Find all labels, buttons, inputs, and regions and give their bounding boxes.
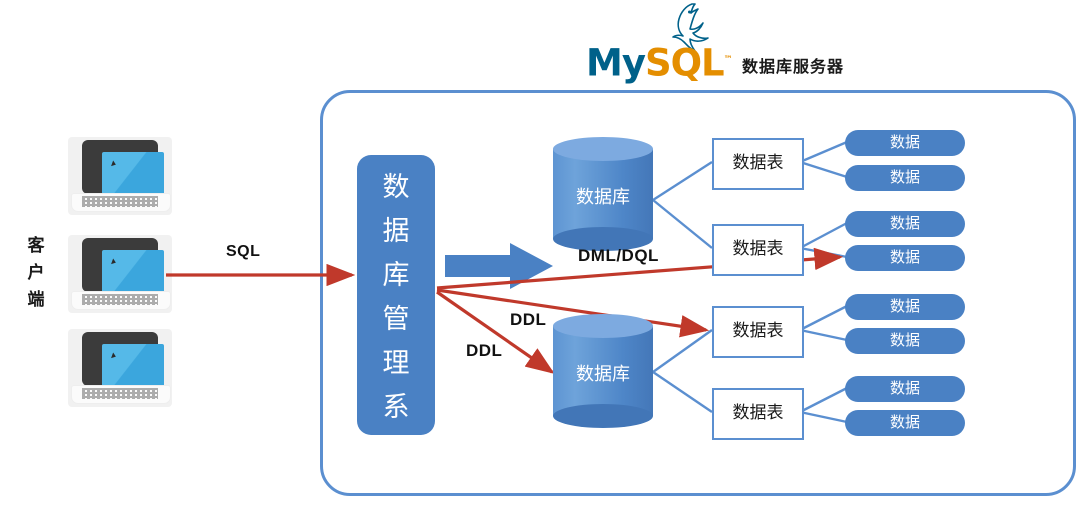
database-label-1: 数据库 (553, 183, 653, 209)
data-pill-1-2[interactable]: 数据 (845, 165, 965, 191)
mysql-logo: MySQL™ (586, 4, 718, 82)
label-ddl-upper: DDL (510, 310, 546, 330)
client-label-char-1: 客 (24, 232, 48, 259)
laptop-keyboard (82, 388, 158, 399)
cylinder-bottom (553, 404, 653, 428)
laptop-screen (102, 344, 164, 387)
data-pill-3-2[interactable]: 数据 (845, 328, 965, 354)
client-laptop-1[interactable] (68, 133, 172, 217)
laptop-lid (82, 238, 158, 292)
mysql-wordmark: MySQL™ (586, 40, 718, 80)
client-laptop-2[interactable] (68, 231, 172, 315)
laptop-lid (82, 332, 158, 386)
table-box-3[interactable]: 数据表 (712, 306, 804, 358)
label-dml-dql: DML/DQL (578, 246, 659, 266)
dbms-char-5: 理 (357, 341, 435, 385)
label-ddl-lower: DDL (466, 341, 502, 361)
table-box-2[interactable]: 数据表 (712, 224, 804, 276)
database-cylinder-1[interactable]: 数据库 (553, 137, 653, 250)
database-cylinder-2[interactable]: 数据库 (553, 314, 653, 427)
dbms-char-3: 库 (357, 253, 435, 297)
cylinder-top (553, 137, 653, 161)
database-label-2: 数据库 (553, 360, 653, 386)
data-pill-4-2[interactable]: 数据 (845, 410, 965, 436)
client-label-char-2: 户 (24, 259, 48, 286)
dbms-box[interactable]: 数 据 库 管 理 系 统 (357, 155, 435, 435)
diagram-canvas: MySQL™ 数据库服务器 客 户 端 (0, 0, 1090, 512)
table-box-1[interactable]: 数据表 (712, 138, 804, 190)
dbms-char-4: 管 (357, 297, 435, 341)
cylinder-top (553, 314, 653, 338)
client-laptop-3[interactable] (68, 325, 172, 409)
server-title: 数据库服务器 (742, 53, 844, 77)
laptop-screen (102, 152, 164, 195)
laptop-keyboard (82, 196, 158, 207)
data-pill-3-1[interactable]: 数据 (845, 294, 965, 320)
laptop-keyboard (82, 294, 158, 305)
dbms-char-7: 统 (357, 429, 435, 473)
data-pill-1-1[interactable]: 数据 (845, 130, 965, 156)
data-pill-4-1[interactable]: 数据 (845, 376, 965, 402)
client-label: 客 户 端 (24, 232, 48, 313)
client-label-char-3: 端 (24, 286, 48, 313)
label-sql: SQL (226, 243, 260, 261)
data-pill-2-2[interactable]: 数据 (845, 245, 965, 271)
dbms-char-1: 数 (357, 165, 435, 209)
table-box-4[interactable]: 数据表 (712, 388, 804, 440)
data-pill-2-1[interactable]: 数据 (845, 211, 965, 237)
dbms-char-6: 系 (357, 385, 435, 429)
dbms-char-2: 据 (357, 209, 435, 253)
laptop-screen (102, 250, 164, 293)
laptop-lid (82, 140, 158, 194)
